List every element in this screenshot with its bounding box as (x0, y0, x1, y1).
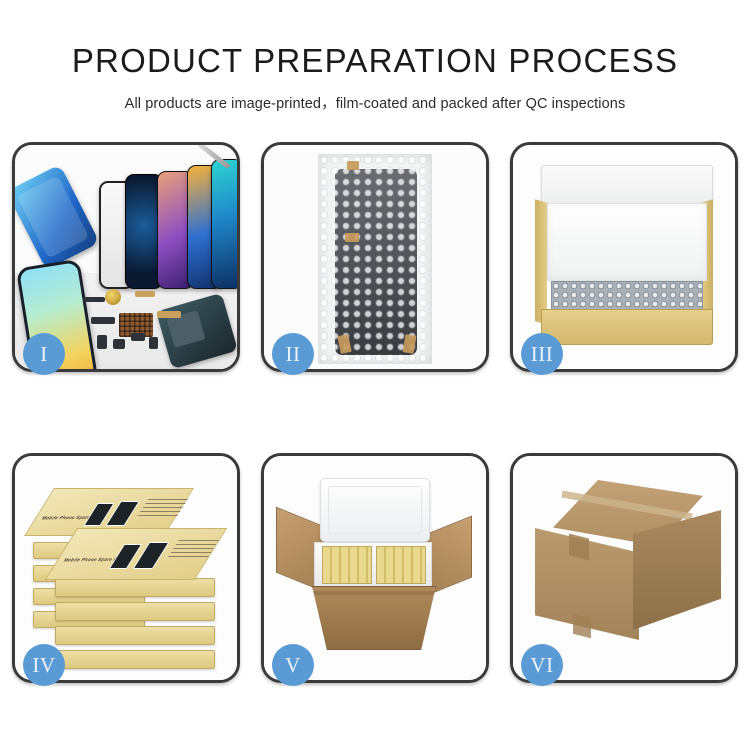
process-step-2[interactable]: II (261, 142, 489, 372)
step-badge-2: II (272, 333, 314, 375)
stacked-box-f4 (55, 650, 215, 669)
packed-boxes-right (376, 546, 426, 584)
earpiece-mesh (83, 297, 105, 302)
step-badge-6: VI (521, 644, 563, 686)
tape-top (347, 161, 359, 170)
sim-tray (149, 337, 158, 349)
battery-cell (97, 335, 107, 349)
process-step-4[interactable]: Mobile Phone Spare Parts Mobile Phone Sp… (12, 453, 240, 683)
connector-strip (91, 317, 115, 324)
page-title: PRODUCT PREPARATION PROCESS (0, 44, 750, 79)
step-badge-3: III (521, 333, 563, 375)
flex-cable-a (135, 291, 155, 297)
kraft-box-stack: Mobile Phone Spare Parts Mobile Phone Sp… (25, 470, 235, 670)
printed-box-lid-front: Mobile Phone Spare Parts (45, 528, 227, 580)
packed-boxes-left (322, 546, 372, 584)
process-row-bottom: Mobile Phone Spare Parts Mobile Phone Sp… (12, 453, 738, 683)
box-left-side (535, 199, 547, 324)
camera-module (113, 339, 125, 349)
sealed-carton (535, 480, 721, 656)
step-badge-4: IV (23, 644, 65, 686)
styrofoam-lid (320, 478, 430, 542)
flex-cable-b (157, 311, 181, 318)
phone-screen-lineup (99, 167, 237, 289)
spare-parts-cluster (87, 283, 207, 367)
stacked-box-f3 (55, 626, 215, 645)
process-step-5[interactable]: V (261, 453, 489, 683)
process-row-top: I II (12, 142, 738, 372)
process-step-grid: I II (12, 142, 738, 683)
box-lid-flap (541, 165, 713, 207)
step-badge-5: V (272, 644, 314, 686)
speaker-module (105, 289, 121, 305)
bubble-wrap-bag (318, 154, 432, 364)
blue-protective-film (15, 164, 100, 270)
page-subtitle: All products are image-printed，film-coat… (0, 92, 750, 113)
process-step-3[interactable]: III (510, 142, 738, 372)
teal-display-phone (211, 159, 237, 289)
bubble-texture-overlay (319, 155, 431, 363)
shipping-carton-body (312, 586, 436, 650)
carton-tape-tab-lower (573, 614, 591, 638)
bubble-wrap-layer (551, 281, 703, 311)
kraft-box-front (541, 309, 713, 345)
white-foam-sheet (547, 203, 707, 281)
step-badge-1: I (23, 333, 65, 375)
stacked-box-f2 (55, 602, 215, 621)
tape-middle (345, 233, 359, 242)
lid-spec-lines-back (136, 499, 188, 519)
carton-tape-tab-upper (569, 534, 589, 561)
stacked-box-f1 (55, 578, 215, 597)
process-step-1[interactable]: I (12, 142, 240, 372)
product-preparation-page: PRODUCT PREPARATION PROCESS All products… (0, 0, 750, 750)
process-step-6[interactable]: VI (510, 453, 738, 683)
page-header: PRODUCT PREPARATION PROCESS All products… (0, 0, 750, 113)
lid-spec-lines-front (166, 540, 218, 560)
vibration-motor (131, 333, 145, 341)
